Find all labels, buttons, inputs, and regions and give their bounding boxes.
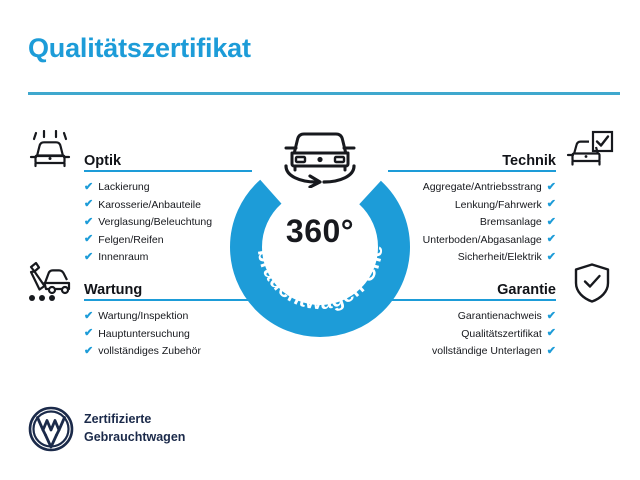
list-item-label: Lenkung/Fahrwerk bbox=[455, 199, 542, 211]
footer-lockup-text: Zertifizierte Gebrauchtwagen bbox=[84, 411, 185, 447]
check-icon: ✔ bbox=[547, 182, 556, 193]
check-icon: ✔ bbox=[547, 199, 556, 210]
section-header-garantie: Garantie bbox=[388, 275, 556, 301]
list-item: ✔ Wartung/Inspektion bbox=[84, 310, 252, 322]
badge-degrees: 360° bbox=[228, 213, 412, 250]
checklist-technik: Aggregate/Antriebsstrang ✔ Lenkung/Fahrw… bbox=[388, 181, 556, 263]
list-item: Aggregate/Antriebsstrang ✔ bbox=[388, 181, 556, 193]
list-item-label: Bremsanlage bbox=[480, 216, 542, 228]
car-rotate-icon bbox=[272, 126, 368, 188]
list-item: Lenkung/Fahrwerk ✔ bbox=[388, 199, 556, 211]
list-item-label: Lackierung bbox=[98, 181, 149, 193]
check-icon: ✔ bbox=[547, 346, 556, 357]
qualitaetszertifikat-page: Qualitätszertifikat Optik bbox=[0, 0, 640, 480]
list-item: Unterboden/Abgasanlage ✔ bbox=[388, 234, 556, 246]
section-title-garantie: Garantie bbox=[497, 282, 556, 298]
check-icon: ✔ bbox=[84, 328, 93, 339]
check-icon: ✔ bbox=[547, 252, 556, 263]
section-divider-optik bbox=[84, 170, 252, 172]
list-item-label: vollständige Unterlagen bbox=[432, 345, 542, 357]
check-icon: ✔ bbox=[84, 346, 93, 357]
check-icon: ✔ bbox=[547, 311, 556, 322]
section-header-technik: Technik bbox=[388, 146, 556, 172]
list-item-label: Hauptuntersuchung bbox=[98, 328, 190, 340]
list-item: ✔ Hauptuntersuchung bbox=[84, 328, 252, 340]
section-optik: Optik ✔ Lackierung ✔ Karosserie/Anbautei… bbox=[84, 146, 252, 269]
checklist-optik: ✔ Lackierung ✔ Karosserie/Anbauteile ✔ V… bbox=[84, 181, 252, 263]
list-item: ✔ Lackierung bbox=[84, 181, 252, 193]
car-checkbox-icon bbox=[566, 130, 614, 175]
list-item-label: Qualitätszertifikat bbox=[461, 328, 542, 340]
section-divider-wartung bbox=[84, 299, 252, 301]
list-item: ✔ Verglasung/Beleuchtung bbox=[84, 216, 252, 228]
list-item: ✔ Innenraum bbox=[84, 251, 252, 263]
car-service-pen-icon bbox=[26, 261, 74, 308]
title-divider bbox=[28, 92, 620, 95]
car-shine-icon bbox=[28, 130, 72, 175]
list-item: vollständige Unterlagen ✔ bbox=[388, 345, 556, 357]
list-item-label: Wartung/Inspektion bbox=[98, 310, 188, 322]
check-icon: ✔ bbox=[84, 311, 93, 322]
section-divider-garantie bbox=[388, 299, 556, 301]
checklist-garantie: Garantienachweis ✔ Qualitätszertifikat ✔… bbox=[388, 310, 556, 357]
footer-line-1: Zertifizierte bbox=[84, 411, 185, 429]
page-title: Qualitätszertifikat bbox=[28, 33, 251, 64]
check-icon: ✔ bbox=[547, 328, 556, 339]
list-item: Bremsanlage ✔ bbox=[388, 216, 556, 228]
list-item-label: Unterboden/Abgasanlage bbox=[423, 234, 542, 246]
check-icon: ✔ bbox=[84, 252, 93, 263]
section-wartung: Wartung ✔ Wartung/Inspektion ✔ Hauptunte… bbox=[84, 275, 252, 363]
check-icon: ✔ bbox=[547, 217, 556, 228]
list-item-label: Karosserie/Anbauteile bbox=[98, 199, 201, 211]
list-item: Garantienachweis ✔ bbox=[388, 310, 556, 322]
list-item: ✔ vollständiges Zubehör bbox=[84, 345, 252, 357]
list-item: Qualitätszertifikat ✔ bbox=[388, 328, 556, 340]
list-item-label: Aggregate/Antriebsstrang bbox=[423, 181, 542, 193]
list-item-label: Sicherheit/Elektrik bbox=[458, 251, 542, 263]
section-garantie: Garantie Garantienachweis ✔ Qualitätszer… bbox=[388, 275, 556, 363]
check-icon: ✔ bbox=[84, 234, 93, 245]
check-icon: ✔ bbox=[84, 182, 93, 193]
checklist-wartung: ✔ Wartung/Inspektion ✔ Hauptuntersuchung… bbox=[84, 310, 252, 357]
section-header-wartung: Wartung bbox=[84, 275, 252, 301]
list-item-label: vollständiges Zubehör bbox=[98, 345, 201, 357]
list-item-label: Felgen/Reifen bbox=[98, 234, 163, 246]
footer-line-2: Gebrauchtwagen bbox=[84, 429, 185, 447]
section-technik: Technik Aggregate/Antriebsstrang ✔ Lenku… bbox=[388, 146, 556, 269]
section-divider-technik bbox=[388, 170, 556, 172]
section-title-technik: Technik bbox=[502, 153, 556, 169]
list-item: Sicherheit/Elektrik ✔ bbox=[388, 251, 556, 263]
section-header-optik: Optik bbox=[84, 146, 252, 172]
check-icon: ✔ bbox=[547, 234, 556, 245]
vw-logo bbox=[28, 406, 74, 457]
list-item-label: Verglasung/Beleuchtung bbox=[98, 216, 212, 228]
list-item: ✔ Felgen/Reifen bbox=[84, 234, 252, 246]
list-item: ✔ Karosserie/Anbauteile bbox=[84, 199, 252, 211]
check-icon: ✔ bbox=[84, 217, 93, 228]
section-title-optik: Optik bbox=[84, 153, 121, 169]
list-item-label: Garantienachweis bbox=[458, 310, 542, 322]
shield-check-icon bbox=[572, 262, 612, 309]
list-item-label: Innenraum bbox=[98, 251, 148, 263]
check-icon: ✔ bbox=[84, 199, 93, 210]
section-title-wartung: Wartung bbox=[84, 282, 142, 298]
